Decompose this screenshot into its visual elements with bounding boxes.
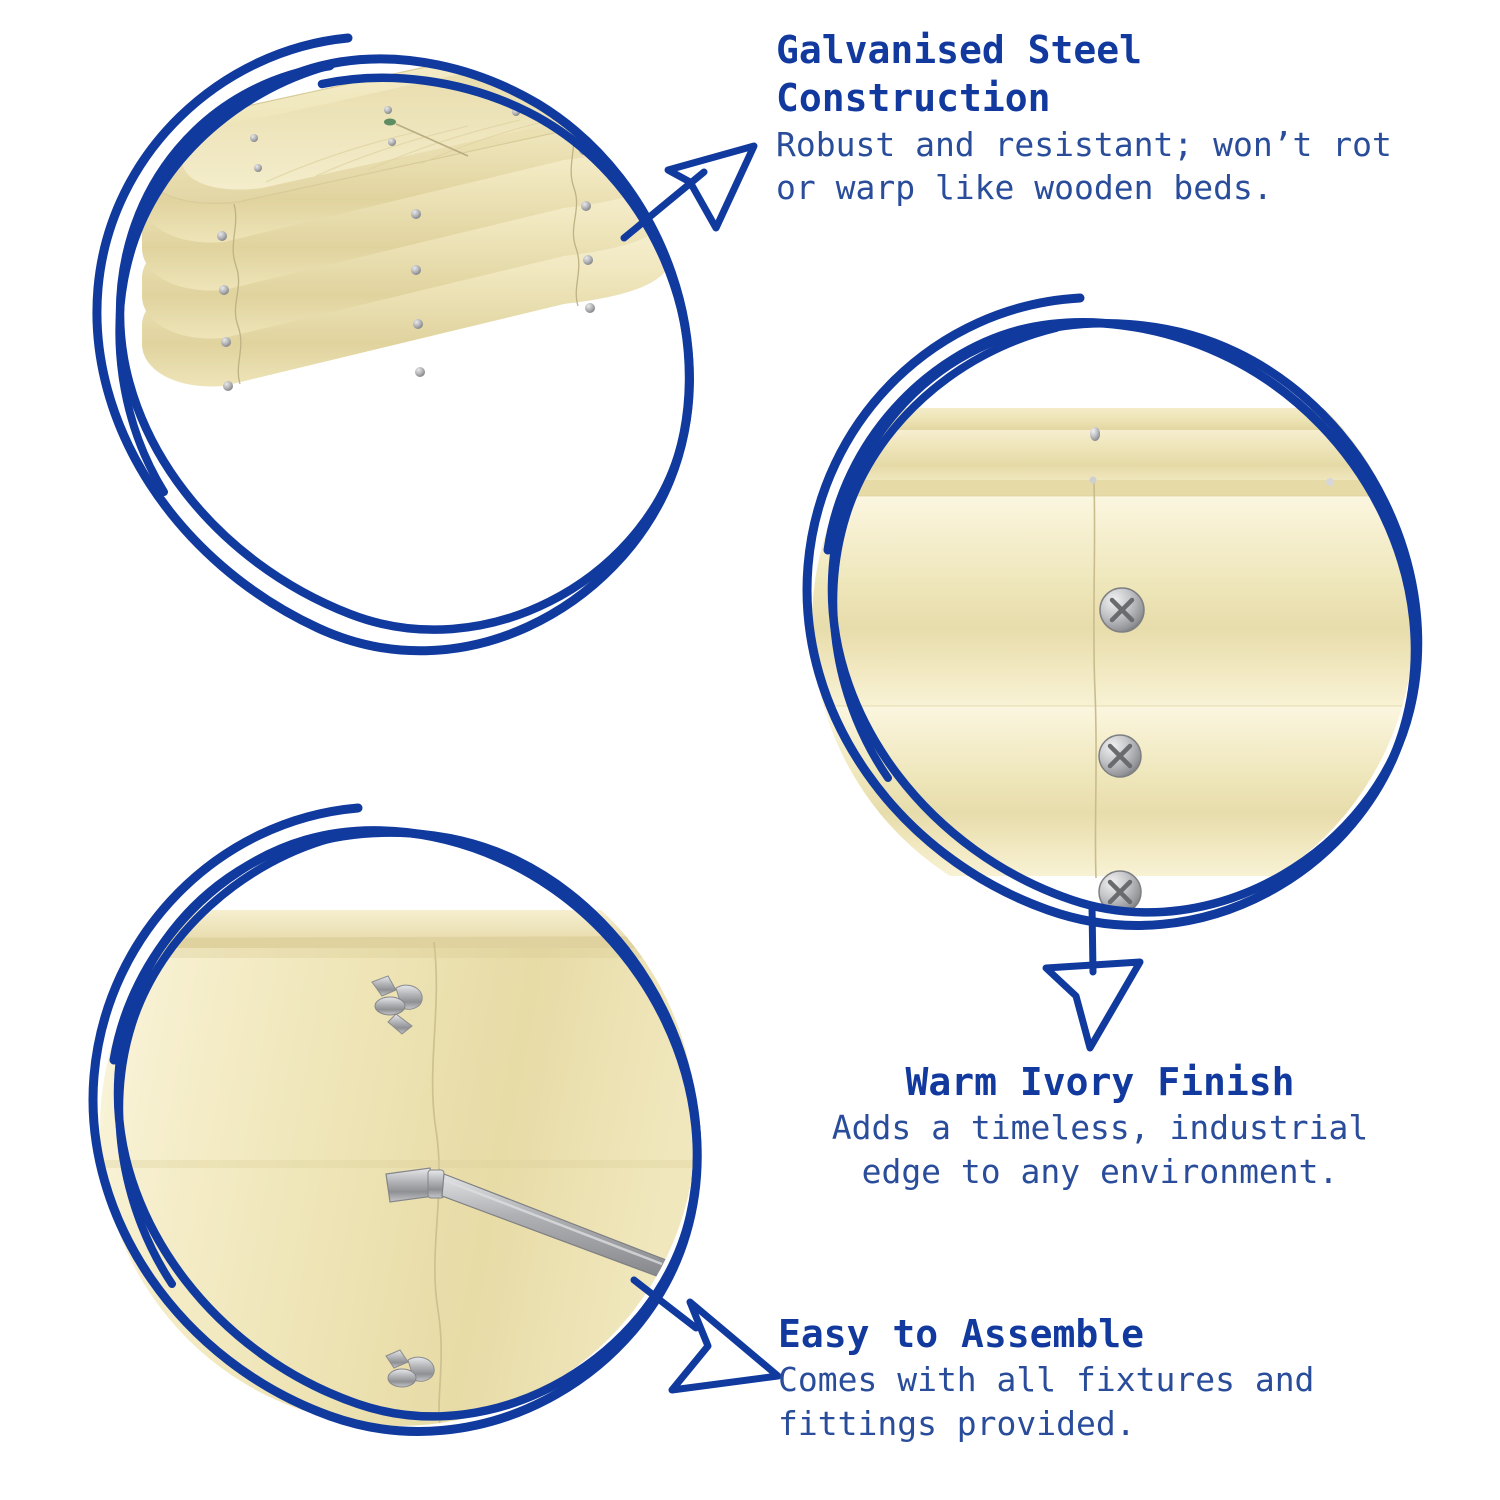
panel-band-top-edge [812, 408, 1414, 430]
phillips-screw-1 [1100, 588, 1144, 632]
circle-panel-photo [812, 322, 1414, 924]
feature-block-warm-ivory: Warm Ivory Finish Adds a timeless, indus… [790, 1058, 1410, 1193]
arrow-head [672, 1302, 778, 1390]
circle-hardware-photo [100, 830, 696, 1426]
arrow-shaft [634, 1280, 696, 1328]
feature-block-easy-assemble: Easy to Assemble Comes with all fixtures… [778, 1310, 1438, 1445]
screwdriver-tip-collar [386, 1168, 434, 1202]
feature-title-warm-ivory: Warm Ivory Finish [790, 1058, 1410, 1106]
phillips-screw-2 [1099, 735, 1141, 777]
panel-band-upper-shadow [812, 480, 1414, 496]
feature-desc-galvanised-steel: Robust and resistant; won’t rot or warp … [776, 123, 1476, 210]
hw-band-top [100, 910, 696, 938]
oval-bed-illustration [110, 60, 678, 628]
panel-closeup-illustration [812, 322, 1414, 924]
feature-block-galvanised-steel: Galvanised Steel Construction Robust and… [776, 26, 1476, 210]
callout-arrow-down [1036, 900, 1216, 1060]
circle-oval-bed-photo [110, 60, 678, 628]
feature-desc-warm-ivory: Adds a timeless, industrial edge to any … [790, 1106, 1410, 1193]
hardware-closeup-illustration [100, 830, 696, 1426]
feature-title-easy-assemble: Easy to Assemble [778, 1310, 1438, 1358]
hw-band-top-shadow [100, 936, 696, 950]
circle-panel-closeup [780, 290, 1446, 956]
circle-hardware-closeup [68, 798, 728, 1458]
feature-title-galvanised-steel: Galvanised Steel Construction [776, 26, 1476, 123]
panel-band-main-2 [812, 706, 1414, 876]
feature-desc-easy-assemble: Comes with all fixtures and fittings pro… [778, 1358, 1438, 1445]
circle-oval-bed [72, 22, 716, 666]
panel-band-upper [812, 430, 1414, 480]
product-feature-infographic: Galvanised Steel Construction Robust and… [0, 0, 1500, 1500]
